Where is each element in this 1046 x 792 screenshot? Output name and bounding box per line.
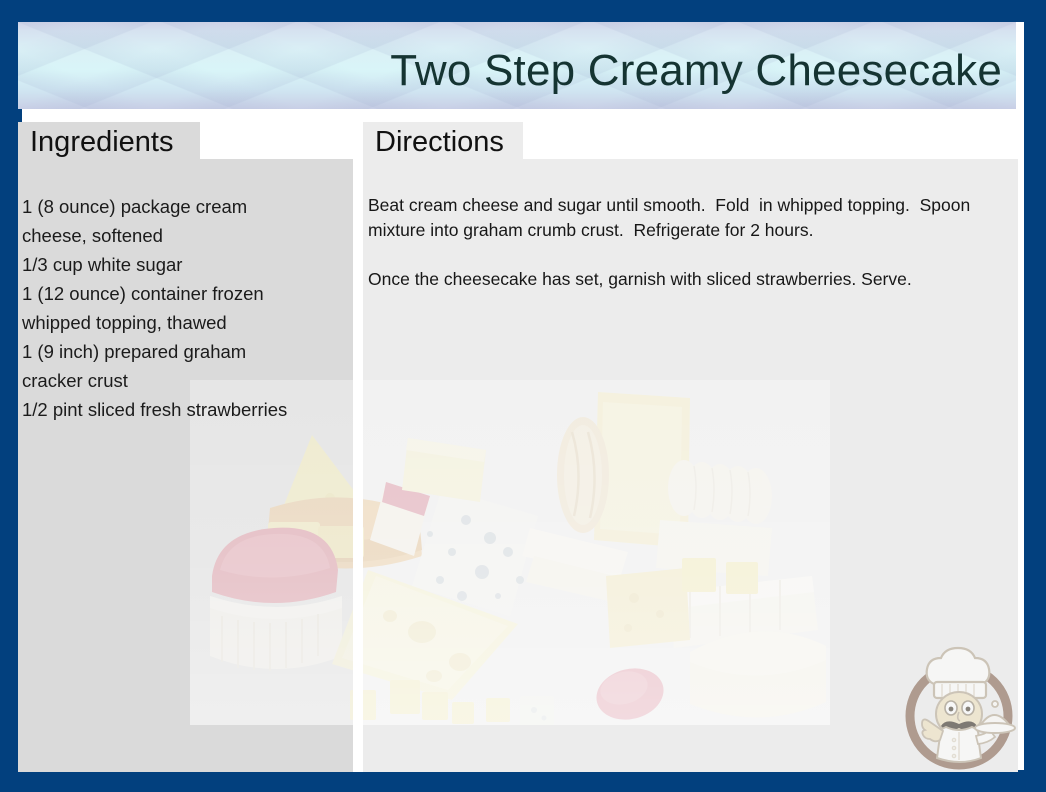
ingredients-list: 1 (8 ounce) package cream cheese, soften… [22,192,348,424]
panel-divider [353,159,363,772]
list-item: 1/2 pint sliced fresh strawberries [22,395,348,424]
list-item: cracker crust [22,366,348,395]
directions-text: Beat cream cheese and sugar until smooth… [368,193,1016,292]
list-item: cheese, softened [22,221,348,250]
list-item: 1/3 cup white sugar [22,250,348,279]
list-item: whipped topping, thawed [22,308,348,337]
directions-paragraph: Once the cheesecake has set, garnish wit… [368,267,1016,292]
tab-ingredients-label: Ingredients [30,128,174,157]
tab-ingredients[interactable]: Ingredients [18,122,200,163]
title-banner: Two Step Creamy Cheesecake [18,22,1016,109]
recipe-slide: Two Step Creamy Cheesecake [0,0,1046,792]
slide-border-bottom [0,770,1046,792]
chef-mascot-logo [900,640,1018,772]
tab-directions-label: Directions [375,128,504,157]
directions-paragraph: Beat cream cheese and sugar until smooth… [368,193,1016,243]
page-title: Two Step Creamy Cheesecake [390,49,1002,93]
list-item: 1 (8 ounce) package cream [22,192,348,221]
tab-directions[interactable]: Directions [363,122,523,163]
list-item: 1 (9 inch) prepared graham [22,337,348,366]
slide-border-top [0,0,1046,22]
slide-border-right [1024,0,1046,792]
list-item: 1 (12 ounce) container frozen [22,279,348,308]
